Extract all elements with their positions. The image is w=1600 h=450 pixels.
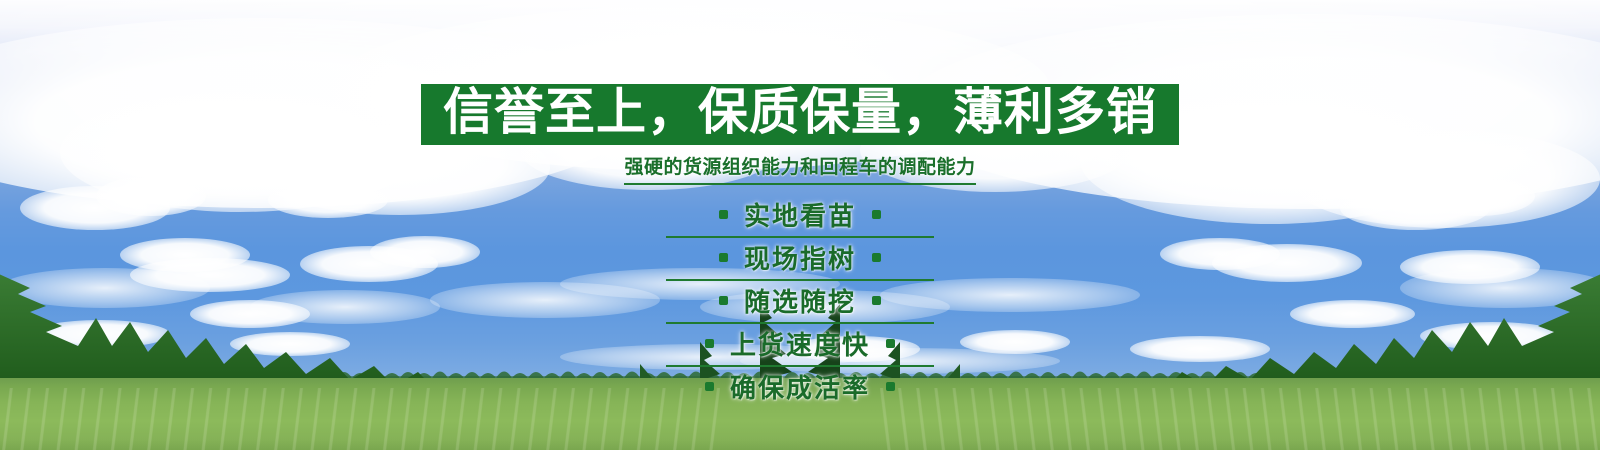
bullet-dot-icon	[886, 382, 895, 391]
feature-list: 实地看苗 现场指树 随选随挖 上货速度快 确保成活率	[666, 195, 934, 408]
promo-banner: 信誉至上，保质保量，薄利多销 强硬的货源组织能力和回程车的调配能力 实地看苗 现…	[0, 0, 1600, 450]
bullet-dot-icon	[705, 382, 714, 391]
feature-label: 确保成活率	[730, 368, 870, 405]
bullet-dot-icon	[886, 339, 895, 348]
feature-item-2: 现场指树	[666, 238, 934, 281]
headline-text: 信誉至上，保质保量，薄利多销	[443, 87, 1157, 137]
headline-banner-bar: 信誉至上，保质保量，薄利多销	[421, 84, 1179, 145]
banner-content: 信誉至上，保质保量，薄利多销 强硬的货源组织能力和回程车的调配能力 实地看苗 现…	[0, 0, 1600, 408]
feature-label: 上货速度快	[730, 325, 870, 362]
bullet-dot-icon	[719, 253, 728, 262]
bullet-dot-icon	[872, 253, 881, 262]
feature-item-3: 随选随挖	[666, 281, 934, 324]
feature-label: 实地看苗	[744, 196, 856, 233]
bullet-dot-icon	[705, 339, 714, 348]
feature-item-4: 上货速度快	[666, 324, 934, 367]
bullet-dot-icon	[872, 210, 881, 219]
bullet-dot-icon	[719, 210, 728, 219]
feature-label: 随选随挖	[744, 282, 856, 319]
feature-label: 现场指树	[744, 239, 856, 276]
bullet-dot-icon	[872, 296, 881, 305]
bullet-dot-icon	[719, 296, 728, 305]
feature-item-5: 确保成活率	[666, 367, 934, 408]
subtitle-text: 强硬的货源组织能力和回程车的调配能力	[624, 152, 975, 185]
feature-item-1: 实地看苗	[666, 195, 934, 238]
